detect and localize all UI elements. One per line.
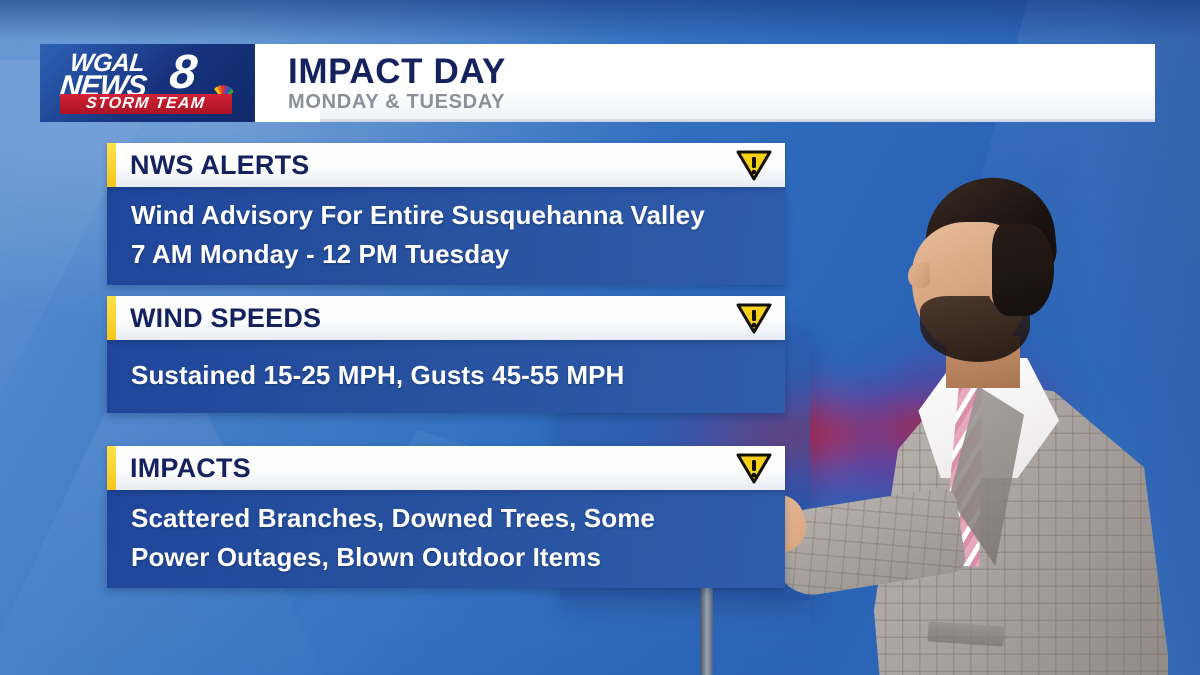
warning-triangle-icon: [736, 302, 772, 334]
panel-line: Scattered Branches, Downed Trees, Some: [131, 499, 785, 538]
panel-heading: WIND SPEEDS: [130, 303, 321, 334]
panel-wind-speeds: WIND SPEEDS Sustained 15-25 MPH, Gusts 4…: [107, 296, 785, 413]
presenter-hair-back: [992, 224, 1054, 316]
station-logo-plate: WGAL 8 NEWS STORM TEAM: [40, 44, 255, 122]
broadcast-header-bar: WGAL 8 NEWS STORM TEAM: [40, 44, 1155, 122]
panel-body: Wind Advisory For Entire Susquehanna Val…: [107, 187, 785, 285]
panel-accent-bar: [107, 143, 116, 187]
panel-nws-alerts: NWS ALERTS Wind Advisory For Entire Susq…: [107, 143, 785, 285]
panel-line: Power Outages, Blown Outdoor Items: [131, 538, 785, 577]
broadcast-screen: WGAL 8 NEWS STORM TEAM: [0, 0, 1200, 675]
logo-storm-team-banner: STORM TEAM: [60, 94, 232, 114]
panel-heading: IMPACTS: [130, 453, 251, 484]
panel-line: Sustained 15-25 MPH, Gusts 45-55 MPH: [131, 356, 785, 395]
panel-accent-bar: [107, 446, 116, 490]
panel-header: NWS ALERTS: [107, 143, 785, 187]
panel-header: IMPACTS: [107, 446, 785, 490]
panel-accent-bar: [107, 296, 116, 340]
panel-impacts: IMPACTS Scattered Branches, Downed Trees…: [107, 446, 785, 588]
logo-storm-team-label: STORM TEAM: [85, 95, 206, 113]
panel-line: 7 AM Monday - 12 PM Tuesday: [131, 235, 785, 274]
header-text-group: IMPACT DAY MONDAY & TUESDAY: [288, 52, 506, 114]
impact-day-title: IMPACT DAY: [288, 52, 506, 92]
logo-channel-number: 8: [167, 48, 199, 98]
presenter-nose: [908, 262, 930, 288]
panel-header: WIND SPEEDS: [107, 296, 785, 340]
monitor-stand-pole: [700, 575, 713, 675]
panel-heading: NWS ALERTS: [130, 150, 310, 181]
background-top-shade: [0, 0, 1200, 40]
warning-triangle-icon: [736, 452, 772, 484]
warning-triangle-icon: [736, 149, 772, 181]
panel-body: Sustained 15-25 MPH, Gusts 45-55 MPH: [107, 340, 785, 413]
wgal-news-8-logo: WGAL 8 NEWS STORM TEAM: [52, 50, 242, 114]
panel-body: Scattered Branches, Downed Trees, Some P…: [107, 490, 785, 588]
impact-day-subtitle: MONDAY & TUESDAY: [288, 90, 506, 114]
meteorologist-presenter: [760, 150, 1200, 675]
panel-line: Wind Advisory For Entire Susquehanna Val…: [131, 196, 785, 235]
